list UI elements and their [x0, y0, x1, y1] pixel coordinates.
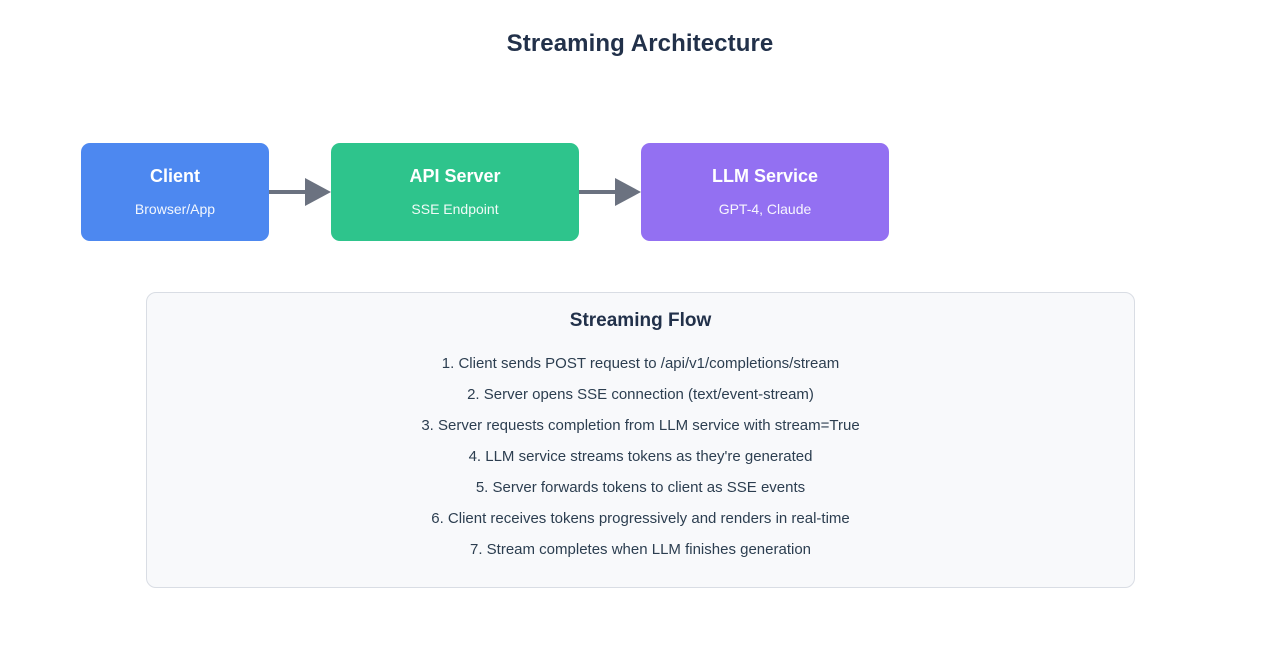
node-client-title: Client — [150, 166, 200, 188]
node-client-subtitle: Browser/App — [135, 201, 215, 218]
node-client: Client Browser/App — [81, 143, 269, 241]
flow-step: 6. Client receives tokens progressively … — [147, 503, 1134, 534]
node-api-server-subtitle: SSE Endpoint — [411, 201, 498, 218]
node-api-server: API Server SSE Endpoint — [331, 143, 579, 241]
streaming-flow-title: Streaming Flow — [147, 310, 1134, 332]
flow-step: 2. Server opens SSE connection (text/eve… — [147, 379, 1134, 410]
node-llm-service-subtitle: GPT-4, Claude — [719, 201, 812, 218]
node-llm-service-title: LLM Service — [712, 166, 818, 188]
node-llm-service: LLM Service GPT-4, Claude — [641, 143, 889, 241]
arrow-head — [615, 178, 641, 206]
flow-step: 4. LLM service streams tokens as they're… — [147, 441, 1134, 472]
node-api-server-title: API Server — [409, 166, 500, 188]
flow-step: 7. Stream completes when LLM finishes ge… — [147, 534, 1134, 565]
flow-step: 1. Client sends POST request to /api/v1/… — [147, 348, 1134, 379]
flow-step: 3. Server requests completion from LLM s… — [147, 410, 1134, 441]
flow-step: 5. Server forwards tokens to client as S… — [147, 472, 1134, 503]
diagram-page: Streaming Architecture Client Browser/Ap… — [0, 0, 1280, 660]
architecture-row: Client Browser/App API Server SSE Endpoi… — [81, 143, 889, 241]
page-title: Streaming Architecture — [0, 30, 1280, 58]
streaming-flow-list: 1. Client sends POST request to /api/v1/… — [147, 348, 1134, 565]
arrow-right-icon — [579, 143, 641, 241]
arrow-head — [305, 178, 331, 206]
streaming-flow-panel: Streaming Flow 1. Client sends POST requ… — [146, 292, 1135, 588]
arrow-right-icon — [269, 143, 331, 241]
